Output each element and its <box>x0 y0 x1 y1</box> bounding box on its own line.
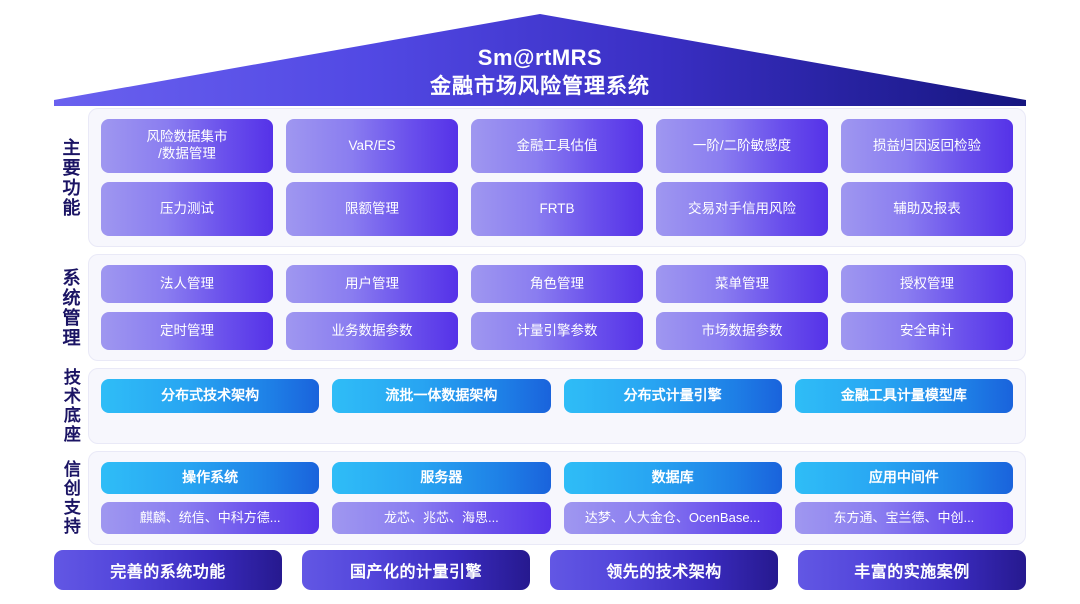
tech-pill[interactable]: 金融工具计量模型库 <box>795 379 1013 413</box>
highlights-banner: 完善的系统功能 国产化的计量引擎 领先的技术架构 丰富的实施案例 <box>0 550 1080 590</box>
pill-row: 法人管理 用户管理 角色管理 菜单管理 授权管理 <box>101 265 1013 303</box>
feature-pill[interactable]: 菜单管理 <box>656 265 828 303</box>
feature-pill[interactable]: 交易对手信用风险 <box>656 182 828 236</box>
feature-pill[interactable]: 市场数据参数 <box>656 312 828 350</box>
feature-pill[interactable]: 压力测试 <box>101 182 273 236</box>
xinchuang-category-pill[interactable]: 操作系统 <box>101 462 319 494</box>
highlight-pill[interactable]: 国产化的计量引擎 <box>302 550 530 590</box>
feature-pill[interactable]: 计量引擎参数 <box>471 312 643 350</box>
section-technology-base: 技术底座 分布式技术架构 流批一体数据架构 分布式计量引擎 金融工具计量模型库 <box>0 368 1080 444</box>
xinchuang-category-pill[interactable]: 数据库 <box>564 462 782 494</box>
section-card-technology-base: 分布式技术架构 流批一体数据架构 分布式计量引擎 金融工具计量模型库 <box>88 368 1026 444</box>
xinchuang-category-pill[interactable]: 服务器 <box>332 462 550 494</box>
architecture-diagram-page: Sm@rtMRS 金融市场风险管理系统 主要功能 风险数据集市 /数据管理 Va… <box>0 0 1080 604</box>
tech-pill[interactable]: 流批一体数据架构 <box>332 379 550 413</box>
highlight-pill[interactable]: 完善的系统功能 <box>54 550 282 590</box>
feature-pill[interactable]: FRTB <box>471 182 643 236</box>
tech-pill[interactable]: 分布式计量引擎 <box>564 379 782 413</box>
section-label-system-management: 系统管理 <box>54 254 88 361</box>
section-main-functions: 主要功能 风险数据集市 /数据管理 VaR/ES 金融工具估值 一阶/二阶敏感度… <box>0 108 1080 247</box>
xinchuang-vendor-pill[interactable]: 龙芯、兆芯、海思... <box>332 502 550 534</box>
feature-pill[interactable]: 定时管理 <box>101 312 273 350</box>
xinchuang-category-pill[interactable]: 应用中间件 <box>795 462 1013 494</box>
sections-container: 主要功能 风险数据集市 /数据管理 VaR/ES 金融工具估值 一阶/二阶敏感度… <box>0 108 1080 552</box>
highlight-pill[interactable]: 丰富的实施案例 <box>798 550 1026 590</box>
feature-pill[interactable]: 风险数据集市 /数据管理 <box>101 119 273 173</box>
pill-row: 风险数据集市 /数据管理 VaR/ES 金融工具估值 一阶/二阶敏感度 损益归因… <box>101 119 1013 173</box>
section-xinchuang-support: 信创支持 操作系统 服务器 数据库 应用中间件 麒麟、统信、中科方德... 龙芯… <box>0 451 1080 545</box>
pill-row: 分布式技术架构 流批一体数据架构 分布式计量引擎 金融工具计量模型库 <box>101 379 1013 413</box>
feature-pill[interactable]: 角色管理 <box>471 265 643 303</box>
feature-pill[interactable]: VaR/ES <box>286 119 458 173</box>
roof-header: Sm@rtMRS 金融市场风险管理系统 <box>0 14 1080 106</box>
xinchuang-vendor-pill[interactable]: 麒麟、统信、中科方德... <box>101 502 319 534</box>
section-card-system-management: 法人管理 用户管理 角色管理 菜单管理 授权管理 定时管理 业务数据参数 计量引… <box>88 254 1026 361</box>
feature-pill[interactable]: 法人管理 <box>101 265 273 303</box>
xinchuang-vendor-pill[interactable]: 东方通、宝兰德、中创... <box>795 502 1013 534</box>
feature-pill[interactable]: 金融工具估值 <box>471 119 643 173</box>
feature-pill[interactable]: 用户管理 <box>286 265 458 303</box>
tech-pill[interactable]: 分布式技术架构 <box>101 379 319 413</box>
section-label-technology-base: 技术底座 <box>54 368 88 444</box>
pill-row: 压力测试 限额管理 FRTB 交易对手信用风险 辅助及报表 <box>101 182 1013 236</box>
section-card-main-functions: 风险数据集市 /数据管理 VaR/ES 金融工具估值 一阶/二阶敏感度 损益归因… <box>88 108 1026 247</box>
feature-pill[interactable]: 限额管理 <box>286 182 458 236</box>
pill-row: 定时管理 业务数据参数 计量引擎参数 市场数据参数 安全审计 <box>101 312 1013 350</box>
feature-pill[interactable]: 一阶/二阶敏感度 <box>656 119 828 173</box>
feature-pill[interactable]: 业务数据参数 <box>286 312 458 350</box>
feature-pill[interactable]: 授权管理 <box>841 265 1013 303</box>
pill-row: 操作系统 服务器 数据库 应用中间件 <box>101 462 1013 494</box>
section-system-management: 系统管理 法人管理 用户管理 角色管理 菜单管理 授权管理 定时管理 业务数据参… <box>0 254 1080 361</box>
roof-triangle-shape <box>0 14 1080 106</box>
feature-pill[interactable]: 损益归因返回检验 <box>841 119 1013 173</box>
section-label-main-functions: 主要功能 <box>54 108 88 247</box>
xinchuang-vendor-pill[interactable]: 达梦、人大金仓、OcenBase... <box>564 502 782 534</box>
highlight-pill[interactable]: 领先的技术架构 <box>550 550 778 590</box>
pill-row: 麒麟、统信、中科方德... 龙芯、兆芯、海思... 达梦、人大金仓、OcenBa… <box>101 502 1013 534</box>
section-label-xinchuang-support: 信创支持 <box>54 451 88 545</box>
section-card-xinchuang-support: 操作系统 服务器 数据库 应用中间件 麒麟、统信、中科方德... 龙芯、兆芯、海… <box>88 451 1026 545</box>
feature-pill[interactable]: 辅助及报表 <box>841 182 1013 236</box>
feature-pill[interactable]: 安全审计 <box>841 312 1013 350</box>
